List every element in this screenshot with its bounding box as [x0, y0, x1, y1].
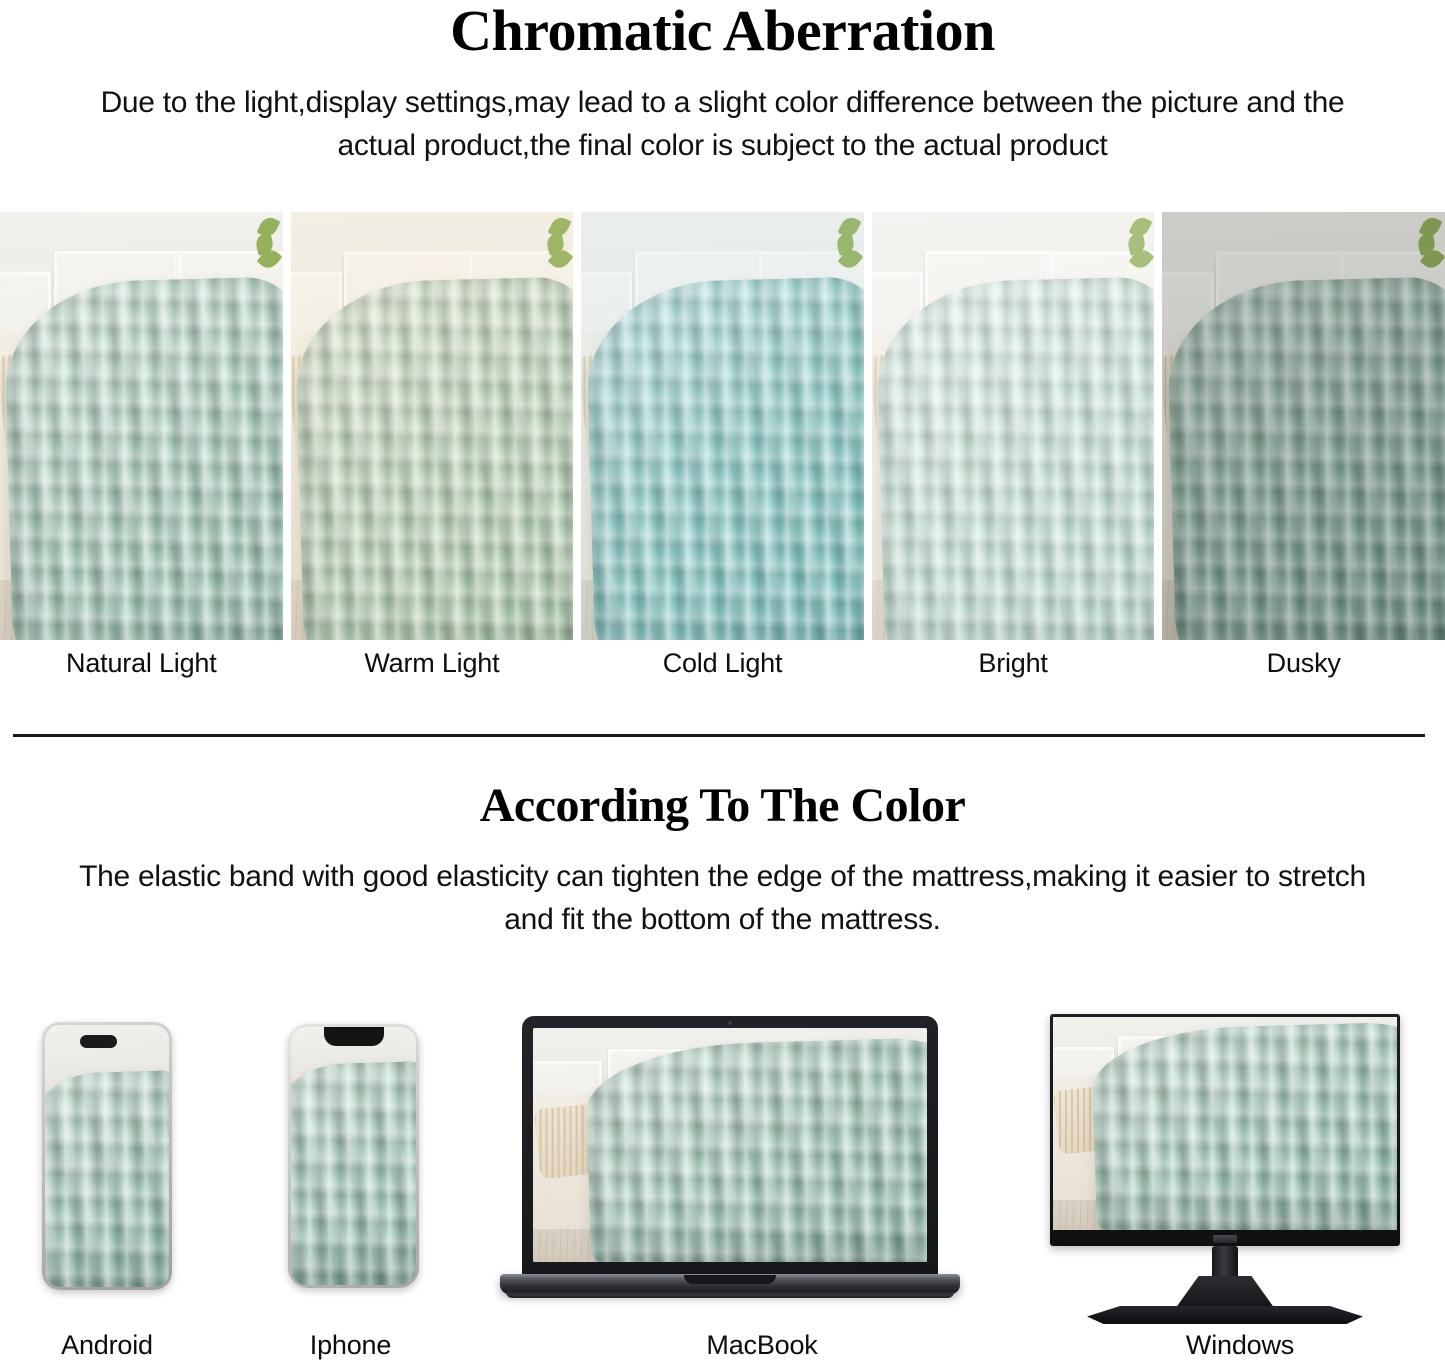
throw-blanket [875, 276, 1154, 640]
device-label-windows: Windows [1140, 1330, 1340, 1361]
device-mockup-iphone [288, 1024, 419, 1288]
device-mockup-android [42, 1022, 172, 1290]
throw-blanket [1091, 1021, 1397, 1230]
lighting-swatch-dusky [1162, 212, 1445, 640]
android-phone-icon [42, 1022, 172, 1290]
device-label-iphone: Iphone [253, 1330, 448, 1361]
lighting-swatch-natural-light [0, 212, 283, 640]
throw-blanket [584, 276, 863, 640]
product-photo-windows [1053, 1017, 1397, 1230]
swatch-label-bright: Bright [872, 648, 1155, 688]
macbook-base [500, 1274, 960, 1294]
page-title-according-to-the-color: According To The Color [0, 782, 1445, 830]
product-photo-android [45, 1025, 169, 1287]
macbook-screen [533, 1028, 927, 1262]
swatch-label-natural-light: Natural Light [0, 648, 283, 688]
product-photo-bright [872, 212, 1155, 640]
throw-blanket [45, 1070, 169, 1287]
throw-blanket [3, 276, 282, 640]
lighting-swatch-cold-light [581, 212, 864, 640]
page-title-chromatic-aberration: Chromatic Aberration [0, 0, 1445, 60]
according-to-the-color-description: The elastic band with good elasticity ca… [73, 830, 1373, 941]
according-to-the-color-section: According To The Color The elastic band … [0, 782, 1445, 941]
product-photo-cold-light [581, 212, 864, 640]
throw-blanket [294, 276, 573, 640]
macbook-foot [506, 1292, 954, 1298]
swatch-label-cold-light: Cold Light [581, 648, 864, 688]
chromatic-aberration-description: Due to the light,display settings,may le… [58, 60, 1388, 167]
monitor-stand-base [1087, 1306, 1363, 1324]
device-label-android: Android [7, 1330, 207, 1361]
device-label-macbook: MacBook [662, 1330, 862, 1361]
device-mockup-row [0, 1008, 1445, 1308]
product-photo-warm-light [291, 212, 574, 640]
camera-pill-icon [80, 1035, 117, 1048]
lighting-swatch-warm-light [291, 212, 574, 640]
monitor-stand-neck [1212, 1246, 1238, 1280]
device-mockup-macbook [500, 1016, 960, 1308]
device-mockup-windows [1050, 1014, 1400, 1314]
device-label-row: Android Iphone MacBook Windows [0, 1330, 1445, 1370]
monitor-screen [1053, 1017, 1397, 1230]
iphone-icon [288, 1024, 419, 1288]
lighting-swatch-label-row: Natural Light Warm Light Cold Light Brig… [0, 648, 1445, 688]
swatch-label-warm-light: Warm Light [291, 648, 574, 688]
throw-blanket [1166, 276, 1445, 640]
macbook-lid-groove [684, 1275, 776, 1284]
macbook-icon [522, 1016, 938, 1276]
windows-monitor-icon [1050, 1014, 1400, 1246]
product-photo-macbook [533, 1028, 927, 1262]
lighting-swatch-bright [872, 212, 1155, 640]
throw-blanket [585, 1037, 927, 1262]
product-photo-dusky [1162, 212, 1445, 640]
swatch-label-dusky: Dusky [1162, 648, 1445, 688]
iphone-screen [291, 1027, 416, 1285]
monitor-brand-logo [1213, 1235, 1237, 1243]
section-divider [13, 734, 1425, 737]
product-photo-iphone [291, 1027, 416, 1285]
throw-blanket [291, 1061, 416, 1285]
product-photo-natural-light [0, 212, 283, 640]
android-screen [45, 1025, 169, 1287]
notch-icon [324, 1027, 384, 1046]
lighting-swatch-row [0, 212, 1445, 640]
webcam-icon [728, 1021, 732, 1025]
